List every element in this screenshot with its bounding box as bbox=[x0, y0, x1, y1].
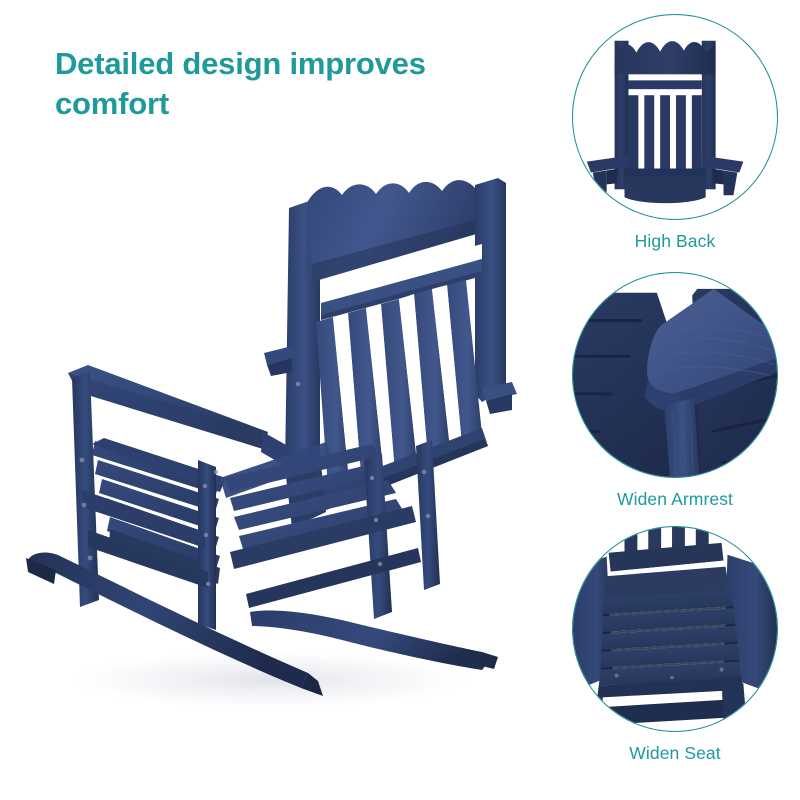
callout-image-widen-armrest bbox=[572, 272, 778, 478]
high-back-icon bbox=[573, 15, 777, 219]
crest-rail-scalloped bbox=[615, 41, 716, 74]
hero-product-image bbox=[20, 160, 530, 730]
callout-image-high-back bbox=[572, 14, 778, 220]
feature-callout-list: High Back bbox=[550, 14, 800, 789]
upper-back-rail bbox=[628, 80, 701, 89]
page-title: Detailed design improves comfort bbox=[55, 44, 525, 125]
seat-slats-closeup bbox=[573, 527, 777, 731]
callout-widen-armrest[interactable]: Widen Armrest bbox=[550, 272, 800, 510]
lower-back-rail bbox=[624, 168, 705, 176]
rocking-chair-illustration bbox=[20, 160, 530, 730]
widen-seat-icon bbox=[573, 527, 777, 731]
seat-back-bottom bbox=[624, 174, 705, 203]
callout-label-high-back: High Back bbox=[550, 231, 800, 252]
callout-label-widen-armrest: Widen Armrest bbox=[550, 489, 800, 510]
headline-line-1: Detailed design improves bbox=[55, 46, 426, 81]
product-feature-page: Detailed design improves comfort bbox=[0, 0, 800, 800]
armrest-left-edge bbox=[68, 373, 268, 449]
seat-slats-group bbox=[599, 590, 742, 685]
armrest-corner-closeup bbox=[573, 273, 777, 477]
rail-gap bbox=[628, 89, 701, 95]
armrest-support-post bbox=[664, 398, 700, 477]
headline-line-2: comfort bbox=[55, 84, 525, 124]
chair-back-front-view bbox=[573, 15, 777, 219]
callout-high-back[interactable]: High Back bbox=[550, 14, 800, 252]
chair-backrest bbox=[285, 178, 506, 528]
widen-armrest-icon bbox=[573, 273, 777, 477]
callout-label-widen-seat: Widen Seat bbox=[550, 743, 800, 764]
armrest-left-support bbox=[593, 170, 607, 195]
crest-gap bbox=[628, 74, 701, 80]
callout-widen-seat[interactable]: Widen Seat bbox=[550, 526, 800, 764]
callout-image-widen-seat bbox=[572, 526, 778, 732]
